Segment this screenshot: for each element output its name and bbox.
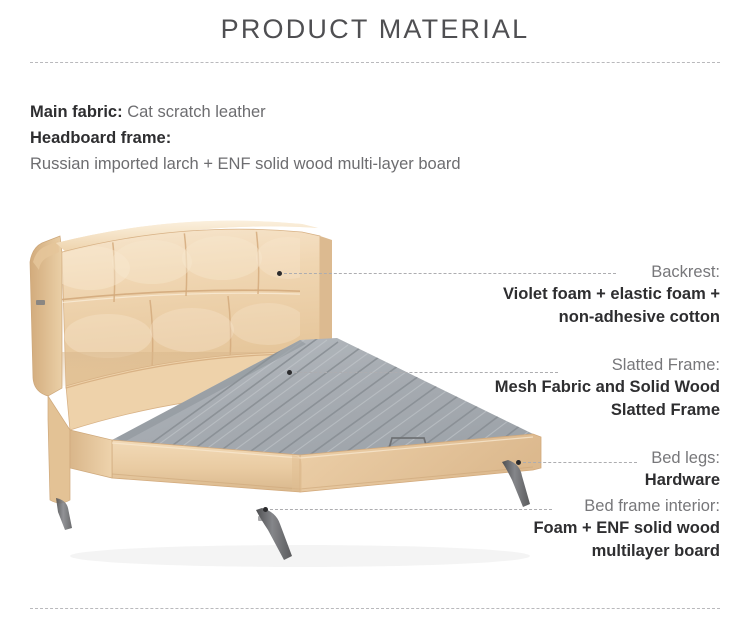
annotation-text-line1: Foam + ENF solid wood [390, 517, 720, 540]
annotation-label: Bed legs: [390, 448, 720, 469]
headboard-brand-tag [36, 300, 45, 305]
leader-dot-slatted-frame [287, 370, 292, 375]
annotation-bed-legs: Bed legs: Hardware [390, 448, 720, 492]
leader-dot-bed-frame-interior [263, 507, 268, 512]
annotation-slatted-frame: Slatted Frame: Mesh Fabric and Solid Woo… [390, 355, 720, 422]
annotation-text-line1: Violet foam + elastic foam + [390, 283, 720, 306]
headboard-left-post [48, 396, 70, 503]
rail-corner-accent [292, 455, 302, 492]
rail-left [70, 430, 112, 478]
annotation-label: Backrest: [390, 262, 720, 283]
annotation-label: Slatted Frame: [390, 355, 720, 376]
annotation-bed-frame-interior: Bed frame interior: Foam + ENF solid woo… [390, 496, 720, 563]
headboard-right-depth [320, 236, 332, 356]
annotation-text-line1: Mesh Fabric and Solid Wood [390, 376, 720, 399]
annotation-text-line1: Hardware [390, 469, 720, 492]
annotation-text-line2: Slatted Frame [390, 399, 720, 422]
leader-dot-backrest [277, 271, 282, 276]
annotation-label: Bed frame interior: [390, 496, 720, 517]
leg-rear-left [56, 498, 72, 530]
annotation-text-line2: non-adhesive cotton [390, 306, 720, 329]
annotation-text-line2: multilayer board [390, 540, 720, 563]
annotation-backrest: Backrest: Violet foam + elastic foam + n… [390, 262, 720, 329]
